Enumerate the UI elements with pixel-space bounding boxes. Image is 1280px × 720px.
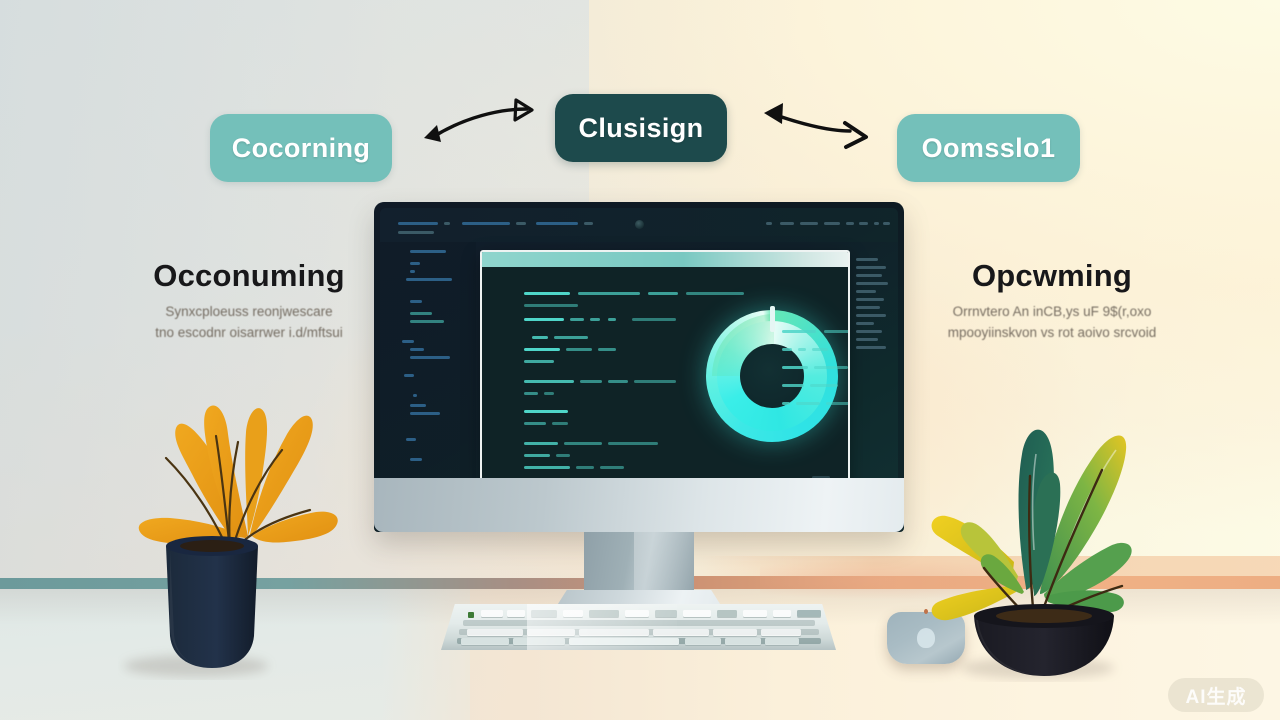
caption-right-title: Opcwming — [918, 258, 1186, 294]
monitor-neck-highlight — [634, 532, 694, 594]
donut-center-hole — [740, 344, 804, 408]
app-topbar[interactable] — [380, 208, 898, 242]
webcam-icon — [635, 220, 644, 229]
keyboard-light-reflection — [527, 604, 677, 656]
app-right-rail[interactable] — [852, 248, 892, 490]
potted-plant-green — [930, 350, 1162, 682]
mouse-led-icon — [924, 609, 928, 614]
donut-start-tick — [770, 306, 775, 332]
caption-right-line-2: mpooyiinskvon vs rot aoivo srcvoid — [918, 323, 1186, 344]
arrow-right-bidirectional-icon — [750, 95, 900, 165]
caption-left-title: Occonuming — [136, 258, 362, 294]
badge-left-label: Cocorning — [232, 133, 371, 164]
caption-left-subtitle: Synxcploeuss reonjwescare tno escodnr oi… — [136, 302, 362, 344]
keyboard-body[interactable] — [441, 604, 836, 650]
desktop-monitor[interactable] — [374, 202, 904, 532]
badge-right-label: Oomsslo1 — [922, 133, 1056, 164]
scene-root: Cocorning Clusisign Oomsslo1 Occonuming … — [0, 0, 1280, 720]
app-window-titlebar[interactable] — [482, 252, 848, 267]
potted-plant-orange — [118, 378, 338, 680]
badge-center-label: Clusisign — [578, 113, 703, 144]
keyboard-led-icon — [468, 612, 474, 618]
ai-generated-watermark: AI生成 — [1168, 678, 1264, 712]
caption-left: Occonuming Synxcploeuss reonjwescare tno… — [136, 258, 362, 344]
caption-left-line-2: tno escodnr oisarrwer i.d/mftsui — [136, 323, 362, 344]
monitor-chin — [374, 478, 904, 532]
caption-left-line-1: Synxcploeuss reonjwescare — [136, 302, 362, 323]
watermark-label: AI生成 — [1185, 682, 1246, 709]
badge-oomsslo1[interactable]: Oomsslo1 — [897, 114, 1080, 182]
app-window[interactable] — [480, 250, 850, 492]
keyboard[interactable] — [441, 598, 836, 658]
caption-right: Opcwming Orrnvtero An inCB,ys uF 9$(r,ox… — [918, 258, 1186, 344]
badge-cocorning[interactable]: Cocorning — [210, 114, 392, 182]
badge-clusisign[interactable]: Clusisign — [555, 94, 727, 162]
caption-right-subtitle: Orrnvtero An inCB,ys uF 9$(r,oxo mpooyii… — [918, 302, 1186, 344]
arrow-left-bidirectional-icon — [405, 95, 555, 165]
donut-chart[interactable] — [706, 310, 838, 442]
caption-right-line-1: Orrnvtero An inCB,ys uF 9$(r,oxo — [918, 302, 1186, 323]
